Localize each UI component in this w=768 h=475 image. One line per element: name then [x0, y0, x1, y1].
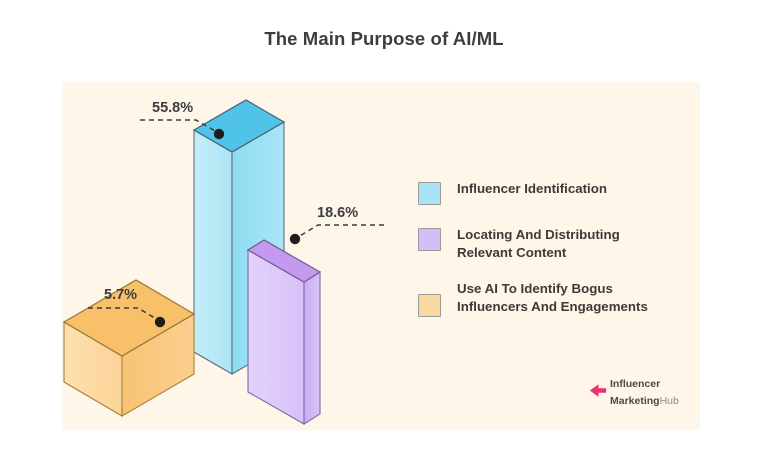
data-point-marker-orange: [155, 317, 165, 327]
legend-label: Influencer Identification: [457, 180, 607, 198]
legend-item-influencer-identification[interactable]: Influencer Identification: [418, 180, 688, 205]
brand-logo[interactable]: Influencer MarketingHub: [589, 374, 679, 409]
data-point-marker-purple: [290, 234, 300, 244]
page-title: The Main Purpose of AI/ML: [0, 28, 768, 50]
legend-swatch-icon-orange: [418, 294, 441, 317]
legend-item-identify-bogus-influencers[interactable]: Use AI To Identify Bogus Influencers And…: [418, 280, 688, 317]
logo-line-2-bold: Marketing: [610, 395, 660, 407]
logo-wordmark: Influencer MarketingHub: [610, 374, 679, 409]
leader-line-purple: [290, 225, 384, 244]
influencer-marketing-hub-arrow-icon: [589, 382, 607, 400]
chart-legend: Influencer Identification Locating And D…: [418, 180, 688, 338]
chart-root: The Main Purpose of AI/ML: [0, 0, 768, 475]
logo-line-2: MarketingHub: [610, 395, 679, 407]
legend-swatch-icon-purple: [418, 228, 441, 251]
chart-panel: 55.8% 18.6% 5.7% Influencer Identificati…: [62, 82, 700, 430]
data-point-marker-blue: [214, 129, 224, 139]
logo-line-2-light: Hub: [660, 395, 679, 407]
data-label-blue: 55.8%: [152, 100, 193, 116]
legend-swatch-icon-blue: [418, 182, 441, 205]
legend-label: Locating And Distributing Relevant Conte…: [457, 226, 620, 263]
bar-locating-distributing-content[interactable]: [248, 240, 320, 424]
legend-item-locating-distributing-content[interactable]: Locating And Distributing Relevant Conte…: [418, 226, 688, 263]
legend-label: Use AI To Identify Bogus Influencers And…: [457, 280, 648, 317]
data-label-purple: 18.6%: [317, 205, 358, 221]
logo-line-1: Influencer: [610, 378, 660, 390]
data-label-orange: 5.7%: [104, 287, 137, 303]
